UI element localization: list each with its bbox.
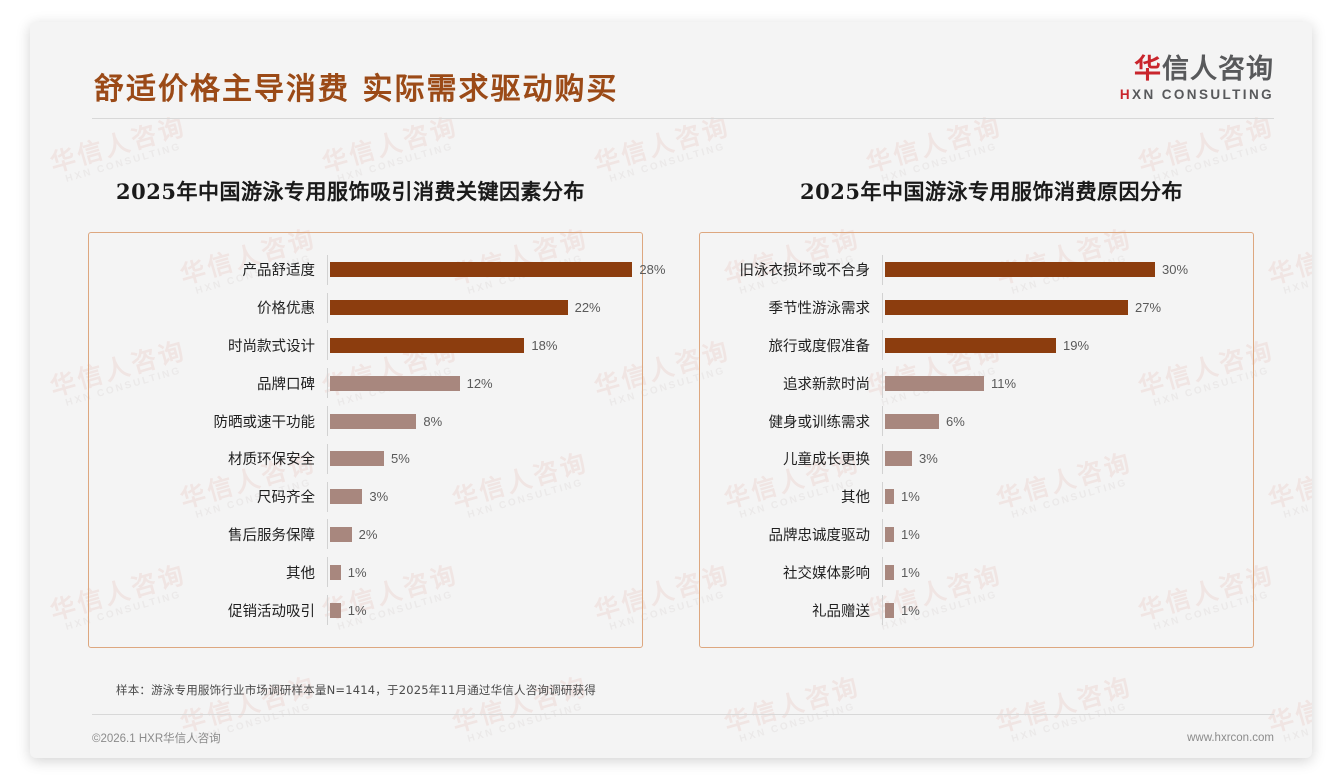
bar — [885, 338, 1056, 353]
bar-category-label: 品牌口碑 — [89, 373, 327, 394]
website-text: www.hxrcon.com — [1187, 732, 1274, 744]
bar-category-label: 季节性游泳需求 — [700, 297, 882, 318]
chart-row: 促销活动吸引1% — [89, 595, 642, 625]
bar — [330, 527, 352, 542]
copyright-text: ©2026.1 HXR华信人咨询 — [92, 730, 221, 746]
left-chart-title: 2025年中国游泳专用服饰吸引消费关键因素分布 — [30, 176, 671, 206]
bar — [885, 414, 939, 429]
bar-category-label: 尺码齐全 — [89, 486, 327, 507]
bar-track: 2% — [327, 519, 642, 549]
chart-row: 追求新款时尚11% — [700, 368, 1253, 398]
bar-track: 22% — [327, 293, 642, 323]
chart-row: 礼品赠送1% — [700, 595, 1253, 625]
bar-category-label: 价格优惠 — [89, 297, 327, 318]
slide: 华信人咨询HXN CONSULTING华信人咨询HXN CONSULTING华信… — [30, 22, 1312, 758]
chart-row: 品牌口碑12% — [89, 368, 642, 398]
bar — [885, 300, 1128, 315]
chart-row: 产品舒适度28% — [89, 255, 642, 285]
bar-value-label: 28% — [639, 262, 665, 277]
bar-value-label: 3% — [919, 451, 938, 466]
left-chart-rows: 产品舒适度28%价格优惠22%时尚款式设计18%品牌口碑12%防晒或速干功能8%… — [89, 251, 642, 629]
bar-value-label: 2% — [359, 527, 378, 542]
bar-category-label: 追求新款时尚 — [700, 373, 882, 394]
chart-row: 时尚款式设计18% — [89, 330, 642, 360]
bar-track: 19% — [882, 330, 1253, 360]
chart-row: 旧泳衣损坏或不合身30% — [700, 255, 1253, 285]
slide-footer: ©2026.1 HXR华信人咨询 www.hxrcon.com — [92, 724, 1274, 752]
bar-value-label: 22% — [575, 300, 601, 315]
bar — [330, 300, 568, 315]
bar-category-label: 旧泳衣损坏或不合身 — [700, 259, 882, 280]
bar-value-label: 5% — [391, 451, 410, 466]
bar-category-label: 售后服务保障 — [89, 524, 327, 545]
bar-track: 12% — [327, 368, 642, 398]
bar — [885, 376, 984, 391]
bar-value-label: 1% — [901, 527, 920, 542]
bar — [330, 414, 416, 429]
bar — [885, 451, 912, 466]
company-logo: 华信人咨询 HXN CONSULTING — [1120, 56, 1274, 102]
chart-row: 健身或训练需求6% — [700, 406, 1253, 436]
chart-row: 防晒或速干功能8% — [89, 406, 642, 436]
bar-value-label: 1% — [348, 603, 367, 618]
logo-cn-rest: 信人咨询 — [1162, 54, 1274, 85]
bar-value-label: 1% — [901, 489, 920, 504]
logo-en-first-char: H — [1120, 87, 1132, 102]
bar-value-label: 18% — [531, 338, 557, 353]
bar-category-label: 防晒或速干功能 — [89, 411, 327, 432]
right-chart-column: 2025年中国游泳专用服饰消费原因分布 旧泳衣损坏或不合身30%季节性游泳需求2… — [671, 132, 1312, 662]
bar — [885, 527, 894, 542]
bar — [885, 489, 894, 504]
chart-row: 儿童成长更换3% — [700, 444, 1253, 474]
bar-value-label: 3% — [369, 489, 388, 504]
bar-value-label: 1% — [901, 565, 920, 580]
bar-value-label: 12% — [467, 376, 493, 391]
logo-cn-first-char: 华 — [1134, 54, 1162, 85]
charts-container: 2025年中国游泳专用服饰吸引消费关键因素分布 产品舒适度28%价格优惠22%时… — [30, 132, 1312, 662]
bar-value-label: 27% — [1135, 300, 1161, 315]
bar-track: 1% — [327, 595, 642, 625]
bar-track: 28% — [327, 255, 665, 285]
bar-category-label: 其他 — [89, 562, 327, 583]
bar-value-label: 19% — [1063, 338, 1089, 353]
bar-value-label: 8% — [423, 414, 442, 429]
bar — [885, 262, 1155, 277]
bar-track: 27% — [882, 293, 1253, 323]
right-chart-card: 旧泳衣损坏或不合身30%季节性游泳需求27%旅行或度假准备19%追求新款时尚11… — [699, 232, 1254, 648]
bar-category-label: 促销活动吸引 — [89, 600, 327, 621]
bar — [330, 451, 384, 466]
bar-category-label: 旅行或度假准备 — [700, 335, 882, 356]
chart-row: 尺码齐全3% — [89, 482, 642, 512]
bar — [330, 489, 362, 504]
left-chart-column: 2025年中国游泳专用服饰吸引消费关键因素分布 产品舒适度28%价格优惠22%时… — [30, 132, 671, 662]
left-chart-card: 产品舒适度28%价格优惠22%时尚款式设计18%品牌口碑12%防晒或速干功能8%… — [88, 232, 643, 648]
bar-track: 30% — [882, 255, 1253, 285]
bar-category-label: 礼品赠送 — [700, 600, 882, 621]
chart-row: 品牌忠诚度驱动1% — [700, 519, 1253, 549]
chart-row: 社交媒体影响1% — [700, 557, 1253, 587]
chart-row: 季节性游泳需求27% — [700, 293, 1253, 323]
bar-category-label: 健身或训练需求 — [700, 411, 882, 432]
logo-en-rest: XN CONSULTING — [1132, 87, 1274, 102]
right-chart-title: 2025年中国游泳专用服饰消费原因分布 — [671, 176, 1312, 206]
bar-track: 1% — [882, 595, 1253, 625]
bar-category-label: 其他 — [700, 486, 882, 507]
right-chart-rows: 旧泳衣损坏或不合身30%季节性游泳需求27%旅行或度假准备19%追求新款时尚11… — [700, 251, 1253, 629]
bar — [885, 565, 894, 580]
bar-category-label: 时尚款式设计 — [89, 335, 327, 356]
logo-english-text: HXN CONSULTING — [1120, 87, 1274, 102]
bar-value-label: 11% — [991, 376, 1016, 391]
bar-track: 8% — [327, 406, 642, 436]
bar-track: 1% — [882, 557, 1253, 587]
bar — [330, 262, 632, 277]
bar-track: 3% — [327, 482, 642, 512]
bar — [330, 338, 524, 353]
bar-track: 1% — [327, 557, 642, 587]
chart-row: 旅行或度假准备19% — [700, 330, 1253, 360]
bar — [330, 565, 341, 580]
bar-track: 3% — [882, 444, 1253, 474]
bar-value-label: 30% — [1162, 262, 1188, 277]
chart-row: 价格优惠22% — [89, 293, 642, 323]
bar — [330, 603, 341, 618]
bar-category-label: 品牌忠诚度驱动 — [700, 524, 882, 545]
chart-row: 其他1% — [700, 482, 1253, 512]
slide-header: 舒适价格主导消费 实际需求驱动购买 华信人咨询 HXN CONSULTING — [30, 22, 1312, 132]
bar-value-label: 1% — [901, 603, 920, 618]
sample-note: 样本：游泳专用服饰行业市场调研样本量N=1414，于2025年11月通过华信人咨… — [116, 682, 596, 698]
page-title: 舒适价格主导消费 实际需求驱动购买 — [94, 64, 618, 108]
chart-row: 材质环保安全5% — [89, 444, 642, 474]
bar-track: 6% — [882, 406, 1253, 436]
bar-category-label: 材质环保安全 — [89, 448, 327, 469]
bar-track: 1% — [882, 519, 1253, 549]
bar — [330, 376, 460, 391]
bar-category-label: 儿童成长更换 — [700, 448, 882, 469]
bar-track: 5% — [327, 444, 642, 474]
bar-value-label: 1% — [348, 565, 367, 580]
header-divider — [92, 118, 1274, 119]
logo-chinese-text: 华信人咨询 — [1120, 56, 1274, 84]
bar-category-label: 产品舒适度 — [89, 259, 327, 280]
footer-divider — [92, 714, 1274, 715]
bar-track: 1% — [882, 482, 1253, 512]
bar-value-label: 6% — [946, 414, 965, 429]
chart-row: 其他1% — [89, 557, 642, 587]
bar-track: 11% — [882, 368, 1253, 398]
bar — [885, 603, 894, 618]
bar-track: 18% — [327, 330, 642, 360]
chart-row: 售后服务保障2% — [89, 519, 642, 549]
bar-category-label: 社交媒体影响 — [700, 562, 882, 583]
